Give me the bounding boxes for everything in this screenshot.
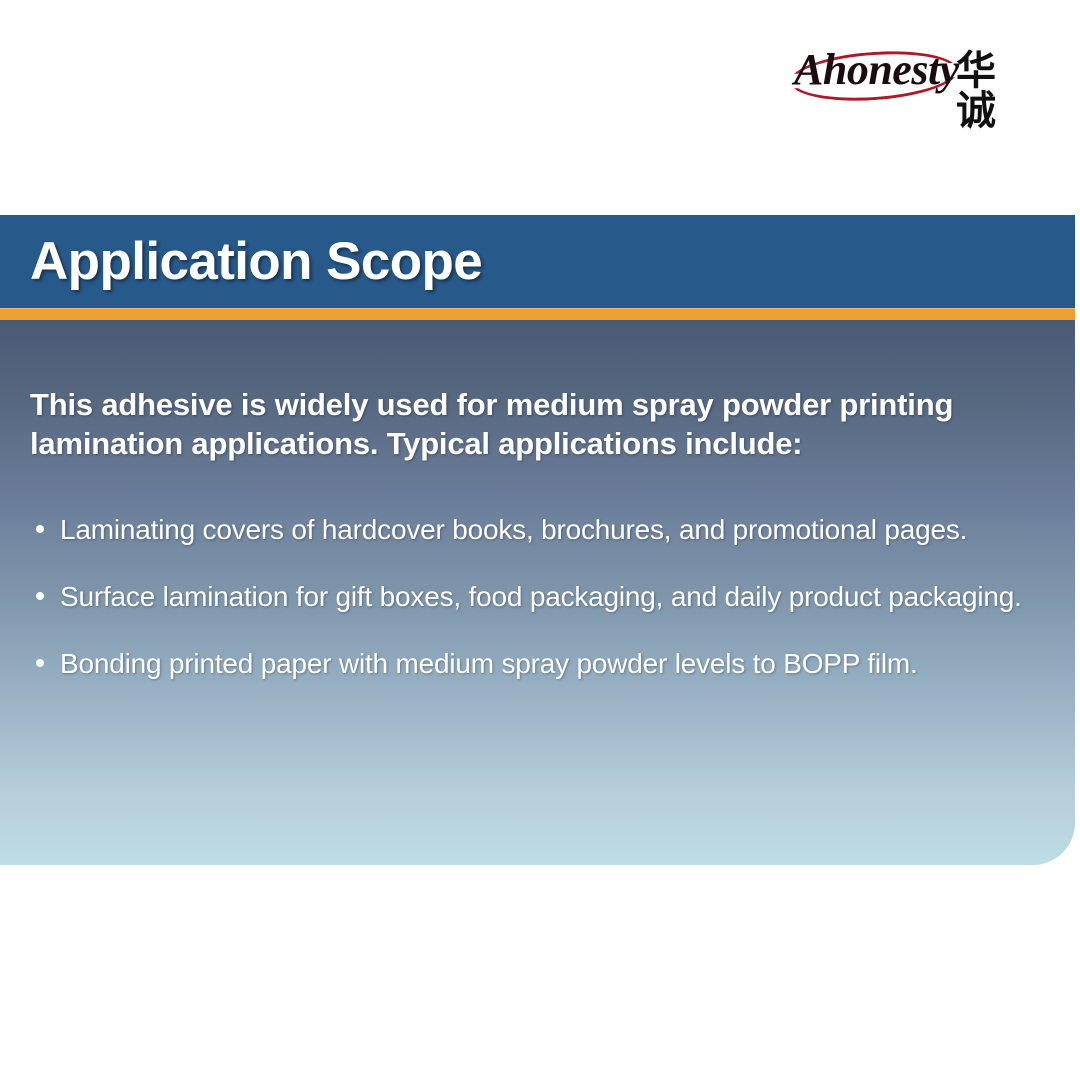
list-item-text: Bonding printed paper with medium spray …	[60, 648, 918, 679]
slide-card: Application Scope Ahonesty 华诚 This adhes…	[0, 215, 1075, 865]
bullet-dot-icon	[36, 592, 44, 600]
logo-name-en: Ahonesty	[794, 48, 959, 92]
list-item: Bonding printed paper with medium spray …	[30, 646, 1025, 681]
accent-divider	[0, 308, 1075, 320]
watermark-name-en: Ahonesty	[376, 863, 591, 865]
slide-header: Application Scope	[0, 215, 1075, 308]
slide-body: Ahonesty 华诚 This adhesive is widely used…	[0, 320, 1075, 865]
bullet-dot-icon	[36, 659, 44, 667]
slide-content: This adhesive is widely used for medium …	[0, 320, 1075, 681]
intro-paragraph: This adhesive is widely used for medium …	[30, 385, 990, 464]
company-logo: Ahonesty 华诚	[790, 46, 1022, 108]
application-bullet-list: Laminating covers of hardcover books, br…	[30, 512, 1025, 681]
list-item-text: Surface lamination for gift boxes, food …	[60, 581, 1022, 612]
logo-name-cn: 华诚	[956, 51, 1022, 131]
list-item: Surface lamination for gift boxes, food …	[30, 579, 1025, 614]
bullet-dot-icon	[36, 525, 44, 533]
watermark-swoosh-icon	[369, 863, 662, 865]
logo-watermark: Ahonesty 华诚	[370, 863, 774, 865]
list-item: Laminating covers of hardcover books, br…	[30, 512, 1025, 547]
list-item-text: Laminating covers of hardcover books, br…	[60, 514, 967, 545]
page-title: Application Scope	[30, 231, 482, 292]
